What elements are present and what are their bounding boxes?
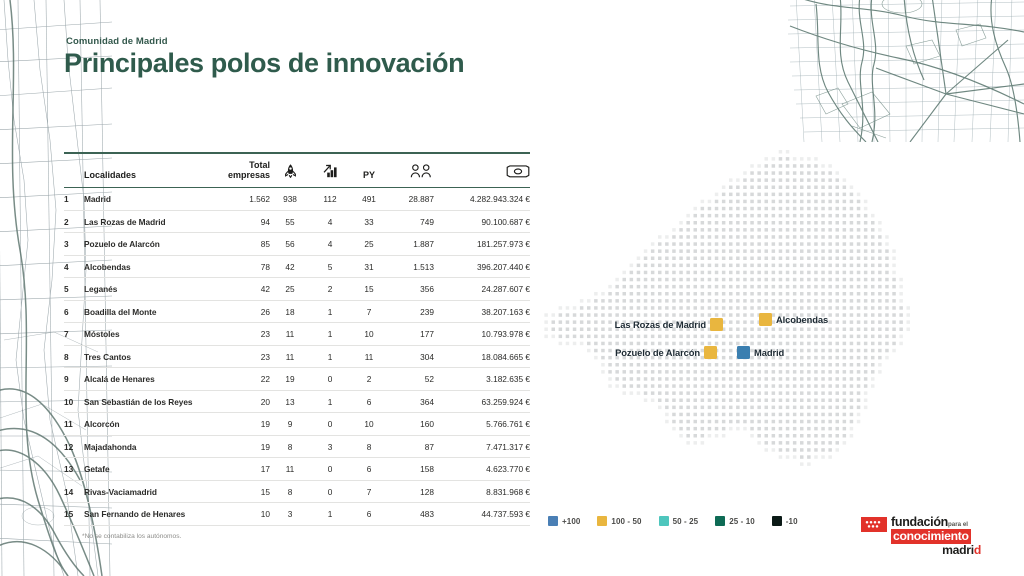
row-locality-name: Leganés: [84, 278, 216, 301]
row-total-empresas: 22: [216, 368, 270, 391]
table-row: 9Alcalá de Henares221902523.182.635 €: [64, 368, 530, 391]
table-row: 11Alcorcón1990101605.766.761 €: [64, 413, 530, 436]
col-header-employees: [388, 153, 434, 188]
col-header-scaleups: [310, 153, 350, 188]
rocket-icon: [284, 163, 297, 180]
row-scaleups: 0: [310, 368, 350, 391]
row-rank: 8: [64, 345, 84, 368]
map-marker[interactable]: [759, 313, 772, 326]
legend-label: 25 - 10: [729, 517, 755, 526]
logo-fundacion-text: fundación: [891, 515, 948, 529]
row-locality-name: Getafe: [84, 458, 216, 481]
col-header-total-empresas: Total empresas: [216, 153, 270, 188]
map-marker[interactable]: [704, 346, 717, 359]
logo-madri-text: madri: [942, 543, 974, 557]
legend-item: 25 - 10: [715, 516, 755, 526]
row-scaleups: 1: [310, 390, 350, 413]
table-row: 15San Fernando de Henares1031648344.737.…: [64, 503, 530, 526]
row-rank: 2: [64, 210, 84, 233]
row-scaleups: 1: [310, 300, 350, 323]
row-scaleups: 3: [310, 435, 350, 458]
row-startups: 56: [270, 233, 310, 256]
row-employees: 1.513: [388, 255, 434, 278]
legend-swatch: [772, 516, 782, 526]
col-header-localidades: Localidades: [84, 153, 216, 188]
row-py: 7: [350, 480, 388, 503]
row-py: 8: [350, 435, 388, 458]
row-revenue: 44.737.593 €: [434, 503, 530, 526]
total-label-line1: Total: [249, 160, 270, 170]
row-rank: 10: [64, 390, 84, 413]
row-scaleups: 0: [310, 413, 350, 436]
row-startups: 938: [270, 188, 310, 211]
row-total-empresas: 85: [216, 233, 270, 256]
row-startups: 8: [270, 435, 310, 458]
map-marker[interactable]: [710, 318, 723, 331]
row-locality-name: Boadilla del Monte: [84, 300, 216, 323]
row-employees: 1.887: [388, 233, 434, 256]
row-scaleups: 5: [310, 255, 350, 278]
row-rank: 3: [64, 233, 84, 256]
legend-swatch: [659, 516, 669, 526]
row-py: 11: [350, 345, 388, 368]
legend-item: +100: [548, 516, 580, 526]
row-rank: 13: [64, 458, 84, 481]
table-row: 12Majadahonda19838877.471.317 €: [64, 435, 530, 458]
legend-swatch: [597, 516, 607, 526]
row-total-empresas: 20: [216, 390, 270, 413]
row-locality-name: Móstoles: [84, 323, 216, 346]
table-row: 7Móstoles231111017710.793.978 €: [64, 323, 530, 346]
row-py: 31: [350, 255, 388, 278]
row-total-empresas: 26: [216, 300, 270, 323]
logo-line-fundacion: fundaciónpara el: [891, 515, 968, 529]
col-header-py: PY: [350, 153, 388, 188]
row-rank: 6: [64, 300, 84, 323]
map-marker[interactable]: [737, 346, 750, 359]
row-total-empresas: 1.562: [216, 188, 270, 211]
row-scaleups: 1: [310, 323, 350, 346]
row-locality-name: Majadahonda: [84, 435, 216, 458]
row-scaleups: 0: [310, 480, 350, 503]
row-startups: 8: [270, 480, 310, 503]
row-scaleups: 2: [310, 278, 350, 301]
row-py: 10: [350, 323, 388, 346]
legend-label: +100: [562, 517, 580, 526]
col-header-startups: [270, 153, 310, 188]
row-locality-name: San Fernando de Henares: [84, 503, 216, 526]
row-total-empresas: 42: [216, 278, 270, 301]
row-employees: 304: [388, 345, 434, 368]
background-street-map-top-right: [756, 0, 1024, 142]
row-startups: 19: [270, 368, 310, 391]
slide-root: Comunidad de Madrid Principales polos de…: [0, 0, 1024, 576]
row-startups: 42: [270, 255, 310, 278]
row-total-empresas: 94: [216, 210, 270, 233]
table-header-row: Localidades Total empresas: [64, 153, 530, 188]
row-startups: 3: [270, 503, 310, 526]
row-locality-name: Rivas-Vaciamadrid: [84, 480, 216, 503]
page-header: Comunidad de Madrid Principales polos de…: [64, 36, 464, 78]
legend-label: -10: [786, 517, 798, 526]
row-rank: 4: [64, 255, 84, 278]
fundacion-conocimiento-madrid-logo: fundaciónpara el conocimiento madrid: [861, 516, 981, 556]
legend-item: 100 - 50: [597, 516, 641, 526]
row-total-empresas: 17: [216, 458, 270, 481]
map-marker-label: Madrid: [754, 347, 784, 358]
row-rank: 11: [64, 413, 84, 436]
row-scaleups: 0: [310, 458, 350, 481]
row-py: 6: [350, 503, 388, 526]
legend-swatch: [548, 516, 558, 526]
table-row: 3Pozuelo de Alarcón85564251.887181.257.9…: [64, 233, 530, 256]
row-locality-name: Pozuelo de Alarcón: [84, 233, 216, 256]
table-row: 8Tres Cantos231111130418.084.665 €: [64, 345, 530, 368]
row-scaleups: 1: [310, 345, 350, 368]
row-rank: 5: [64, 278, 84, 301]
logo-line-madrid: madrid: [942, 543, 981, 557]
row-scaleups: 1: [310, 503, 350, 526]
row-py: 6: [350, 390, 388, 413]
row-startups: 55: [270, 210, 310, 233]
row-employees: 52: [388, 368, 434, 391]
row-locality-name: Alcobendas: [84, 255, 216, 278]
madrid-stars-emblem-icon: [861, 517, 887, 532]
legend-item: 50 - 25: [659, 516, 699, 526]
row-rank: 1: [64, 188, 84, 211]
row-employees: 87: [388, 435, 434, 458]
row-locality-name: San Sebastián de los Reyes: [84, 390, 216, 413]
row-py: 6: [350, 458, 388, 481]
map-marker-label: Alcobendas: [776, 314, 828, 325]
row-employees: 128: [388, 480, 434, 503]
row-scaleups: 4: [310, 210, 350, 233]
map-marker-label: Las Rozas de Madrid: [516, 319, 706, 330]
row-employees: 158: [388, 458, 434, 481]
row-rank: 15: [64, 503, 84, 526]
row-py: 25: [350, 233, 388, 256]
row-employees: 364: [388, 390, 434, 413]
rankings-table-container: Localidades Total empresas: [64, 152, 494, 526]
row-total-empresas: 23: [216, 345, 270, 368]
row-locality-name: Alcorcón: [84, 413, 216, 436]
row-locality-name: Tres Cantos: [84, 345, 216, 368]
table-body: 1Madrid1.56293811249128.8874.282.943.324…: [64, 188, 530, 526]
row-py: 10: [350, 413, 388, 436]
row-startups: 18: [270, 300, 310, 323]
row-employees: 28.887: [388, 188, 434, 211]
row-startups: 25: [270, 278, 310, 301]
logo-d-accent: d: [974, 543, 981, 557]
row-total-empresas: 15: [216, 480, 270, 503]
row-startups: 11: [270, 458, 310, 481]
row-employees: 356: [388, 278, 434, 301]
row-locality-name: Madrid: [84, 188, 216, 211]
growth-chart-icon: [323, 164, 338, 180]
total-label-line2: empresas: [228, 170, 270, 180]
map-marker-label: Pozuelo de Alarcón: [516, 347, 700, 358]
row-locality-name: Las Rozas de Madrid: [84, 210, 216, 233]
legend-swatch: [715, 516, 725, 526]
row-employees: 160: [388, 413, 434, 436]
row-scaleups: 112: [310, 188, 350, 211]
row-rank: 14: [64, 480, 84, 503]
rankings-table: Localidades Total empresas: [64, 152, 530, 526]
row-total-empresas: 10: [216, 503, 270, 526]
row-employees: 177: [388, 323, 434, 346]
row-startups: 11: [270, 345, 310, 368]
row-py: 7: [350, 300, 388, 323]
table-footnote: *No se contabiliza los autónomos.: [82, 533, 181, 540]
row-rank: 9: [64, 368, 84, 391]
two-people-icon: [410, 164, 434, 180]
row-py: 491: [350, 188, 388, 211]
legend-label: 100 - 50: [611, 517, 641, 526]
table-row: 10San Sebastián de los Reyes20131636463.…: [64, 390, 530, 413]
row-locality-name: Alcalá de Henares: [84, 368, 216, 391]
table-row: 2Las Rozas de Madrid945543374990.100.687…: [64, 210, 530, 233]
row-startups: 9: [270, 413, 310, 436]
table-head: Localidades Total empresas: [64, 153, 530, 188]
table-row: 13Getafe1711061584.623.770 €: [64, 458, 530, 481]
page-title: Principales polos de innovación: [64, 48, 464, 78]
row-py: 33: [350, 210, 388, 233]
row-scaleups: 4: [310, 233, 350, 256]
row-employees: 749: [388, 210, 434, 233]
row-total-empresas: 19: [216, 413, 270, 436]
col-header-rank: [64, 153, 84, 188]
madrid-dot-map: Las Rozas de MadridAlcobendasPozuelo de …: [516, 150, 916, 500]
row-total-empresas: 19: [216, 435, 270, 458]
row-total-empresas: 23: [216, 323, 270, 346]
row-employees: 239: [388, 300, 434, 323]
table-row: 5Leganés422521535624.287.607 €: [64, 278, 530, 301]
legend-label: 50 - 25: [673, 517, 699, 526]
logo-para-el-text: para el: [948, 521, 968, 528]
row-rank: 7: [64, 323, 84, 346]
table-row: 4Alcobendas78425311.513396.207.440 €: [64, 255, 530, 278]
row-startups: 13: [270, 390, 310, 413]
table-row: 1Madrid1.56293811249128.8874.282.943.324…: [64, 188, 530, 211]
eyebrow-text: Comunidad de Madrid: [66, 36, 464, 47]
row-startups: 11: [270, 323, 310, 346]
row-rank: 12: [64, 435, 84, 458]
row-py: 15: [350, 278, 388, 301]
row-py: 2: [350, 368, 388, 391]
row-employees: 483: [388, 503, 434, 526]
logo-line-conocimiento: conocimiento: [891, 529, 971, 544]
legend-item: -10: [772, 516, 798, 526]
table-row: 14Rivas-Vaciamadrid158071288.831.968 €: [64, 480, 530, 503]
row-total-empresas: 78: [216, 255, 270, 278]
map-legend: +100100 - 5050 - 2525 - 10-10: [548, 516, 798, 526]
table-row: 6Boadilla del Monte26181723938.207.163 €: [64, 300, 530, 323]
